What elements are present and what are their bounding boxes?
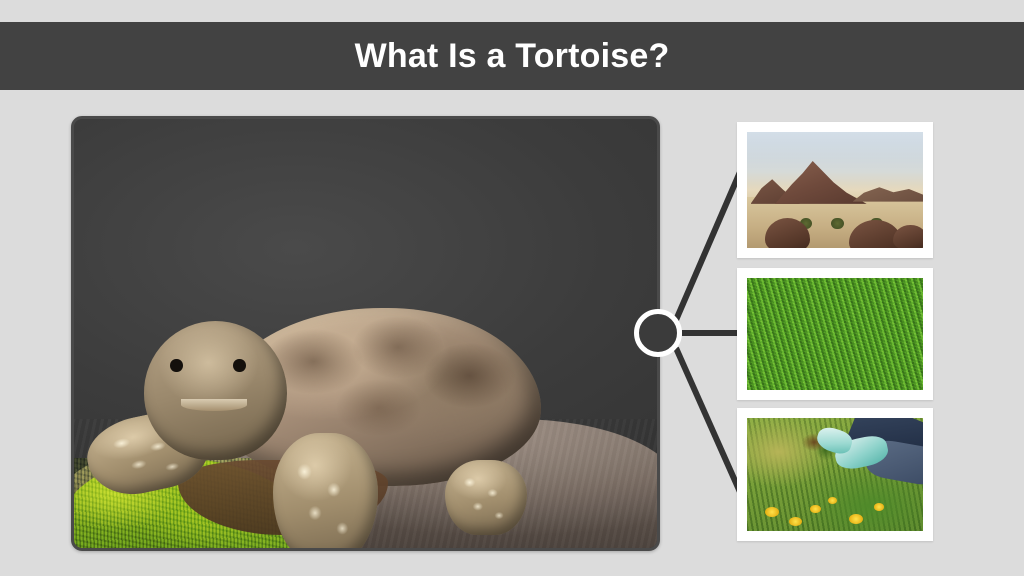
tortoise-mouth — [181, 399, 247, 411]
desert-bush — [831, 218, 843, 230]
thumbnail-desert-habitat[interactable] — [737, 122, 933, 258]
sky — [747, 132, 923, 185]
thumbnail-grass[interactable] — [737, 268, 933, 400]
dandelion — [765, 507, 779, 517]
dandelion — [789, 517, 801, 526]
connector-line-top — [676, 172, 740, 320]
main-image-panel[interactable] — [71, 116, 660, 551]
tortoise-left-eye — [170, 359, 183, 373]
tortoise-back-right-leg — [445, 460, 526, 536]
tortoise-photo — [74, 119, 657, 548]
header-bar: What Is a Tortoise? — [0, 22, 1024, 90]
tortoise-head — [144, 321, 287, 459]
desert-landscape-art — [747, 132, 923, 248]
thumbnail-desert-habitat-image — [747, 132, 923, 248]
connector-line-bottom — [676, 348, 740, 492]
tortoise-figure — [91, 303, 569, 526]
connector-node[interactable] — [634, 309, 682, 357]
thumbnail-weeding[interactable] — [737, 408, 933, 541]
slide-canvas: What Is a Tortoise? — [0, 0, 1024, 576]
dandelion — [810, 505, 821, 513]
boulder — [893, 225, 923, 248]
weeding-lawn-art — [747, 418, 923, 531]
tortoise-right-eye — [233, 359, 246, 373]
thumbnail-grass-image — [747, 278, 923, 390]
dandelion — [874, 503, 885, 511]
tortoise-front-right-leg — [273, 433, 378, 548]
thumbnail-weeding-image — [747, 418, 923, 531]
grass-texture-art — [747, 278, 923, 390]
dandelion — [849, 514, 863, 524]
page-title: What Is a Tortoise? — [355, 39, 670, 73]
dandelion — [828, 497, 837, 504]
